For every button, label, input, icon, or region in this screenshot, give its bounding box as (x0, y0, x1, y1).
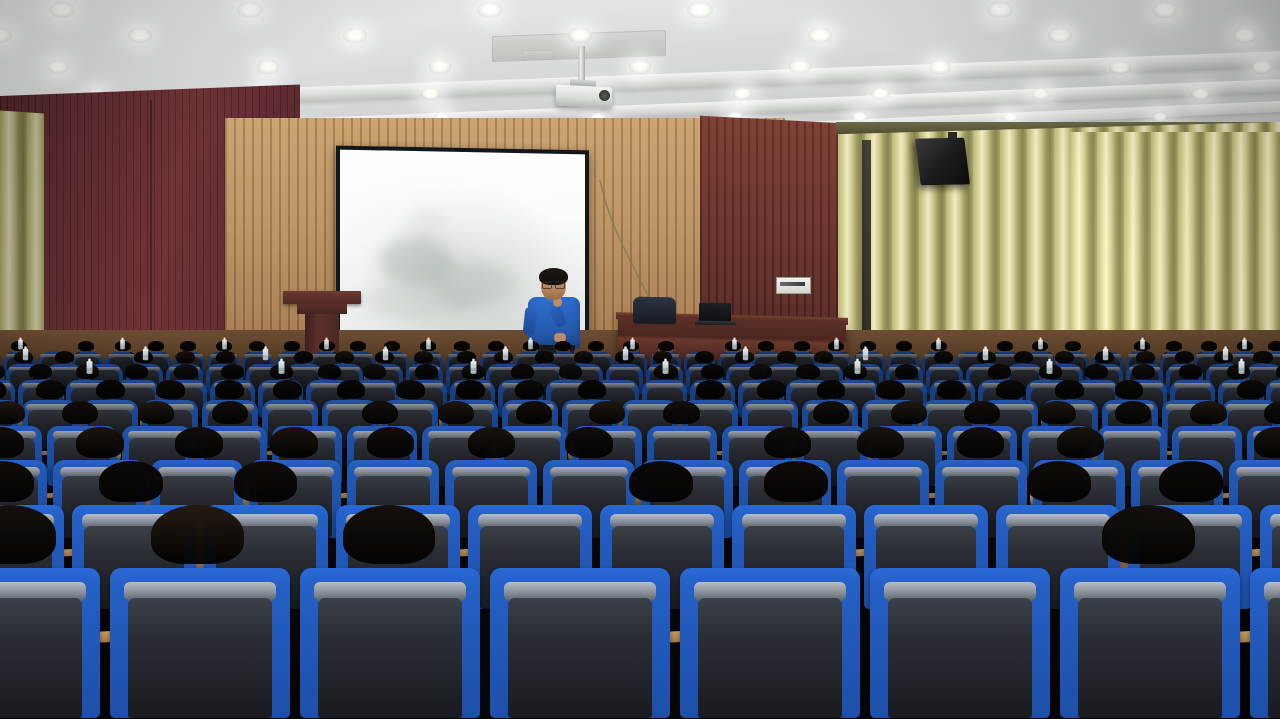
audience-member-hair (62, 401, 98, 425)
water-bottle (855, 361, 861, 374)
audience-member-hair (996, 380, 1025, 399)
audience-member-hair (794, 341, 810, 351)
water-bottle (1239, 361, 1245, 374)
audience-member-hair (511, 364, 534, 379)
audience-member-hair (1085, 364, 1108, 379)
audience-member-hair (588, 341, 604, 351)
water-bottle (1038, 340, 1043, 350)
audience-member-hair (148, 341, 164, 351)
water-bottle (742, 348, 747, 360)
audience-member-hair (589, 401, 625, 425)
water-bottle (426, 340, 431, 350)
audience-member-hair (857, 427, 904, 458)
audience-member-hair (55, 351, 74, 363)
audience-member-hair (294, 351, 313, 363)
audience-member-hair (468, 427, 515, 458)
water-bottle (663, 361, 669, 374)
audience-seating (0, 0, 1280, 719)
audience-member-hair (414, 351, 433, 363)
audience-member-hair (456, 380, 485, 399)
water-bottle (142, 348, 147, 360)
audience-member-hair (1175, 351, 1194, 363)
audience-member-hair (363, 364, 386, 379)
water-bottle (382, 348, 387, 360)
audience-member-hair (234, 461, 298, 502)
audience-member-hair (1057, 427, 1104, 458)
audience-member-hair (284, 341, 300, 351)
auditorium-seat (490, 568, 670, 718)
audience-member-hair (814, 351, 833, 363)
audience-member-hair (1115, 401, 1151, 425)
auditorium-seat (680, 568, 860, 718)
water-bottle (622, 348, 627, 360)
audience-member-hair (777, 351, 796, 363)
water-bottle (22, 348, 27, 360)
audience-member-hair (221, 364, 244, 379)
water-bottle (222, 340, 227, 350)
water-bottle (262, 348, 267, 360)
seat-cushion (128, 598, 272, 718)
audience-member-hair (396, 380, 425, 399)
auditorium-seat (1250, 568, 1280, 718)
audience-member-hair (574, 351, 593, 363)
audience-member-hair (156, 380, 185, 399)
water-bottle (471, 361, 477, 374)
water-bottle (502, 348, 507, 360)
audience-member-hair (1115, 380, 1144, 399)
audience-member-hair (215, 380, 244, 399)
water-bottle (1102, 348, 1107, 360)
audience-member-hair (988, 364, 1011, 379)
audience-member-hair (36, 380, 65, 399)
water-bottle (324, 340, 329, 350)
audience-member-hair (343, 505, 436, 564)
audience-member-hair (1237, 380, 1266, 399)
audience-member-hair (1132, 364, 1155, 379)
water-bottle (120, 340, 125, 350)
audience-member-hair (957, 427, 1004, 458)
seat-cushion (1268, 598, 1280, 718)
audience-member-hair (367, 427, 414, 458)
audience-member-hair (535, 351, 554, 363)
auditorium-seat (1060, 568, 1240, 718)
audience-member-hair (212, 401, 248, 425)
water-bottle (862, 348, 867, 360)
audience-member-hair (516, 401, 552, 425)
audience-member-hair (180, 341, 196, 351)
water-bottle (630, 340, 635, 350)
water-bottle (834, 340, 839, 350)
audience-member-hair (488, 341, 504, 351)
water-bottle (1222, 348, 1227, 360)
auditorium-seat (870, 568, 1050, 718)
audience-member-hair (663, 401, 699, 425)
audience-member-hair (559, 364, 582, 379)
water-bottle (1242, 340, 1247, 350)
audience-member-hair (1039, 401, 1075, 425)
audience-member-hair (76, 427, 123, 458)
audience-member-hair (515, 380, 544, 399)
audience-member-hair (1027, 461, 1091, 502)
audience-member-hair (1268, 341, 1280, 351)
audience-member-hair (335, 351, 354, 363)
audience-member-hair (565, 427, 612, 458)
seat-cushion (0, 598, 82, 718)
water-bottle (1047, 361, 1053, 374)
audience-member-hair (896, 341, 912, 351)
audience-member-hair (138, 401, 174, 425)
audience-member-hair (695, 351, 714, 363)
seat-cushion (888, 598, 1032, 718)
audience-member-hair (764, 427, 811, 458)
audience-member-hair (817, 380, 846, 399)
audience-member-hair (578, 380, 607, 399)
audience-member-hair (273, 380, 302, 399)
audience-member-hair (337, 380, 366, 399)
audience-member-hair (415, 364, 438, 379)
audience-member-hair (937, 380, 966, 399)
audience-member-hair (749, 364, 772, 379)
audience-member-hair (438, 401, 474, 425)
audience-member-hair (696, 380, 725, 399)
audience-member-hair (764, 461, 828, 502)
seat-cushion (698, 598, 842, 718)
audience-member-hair (813, 401, 849, 425)
water-bottle (87, 361, 93, 374)
seat-cushion (508, 598, 652, 718)
audience-member-hair (796, 364, 819, 379)
water-bottle (732, 340, 737, 350)
audience-member-hair (876, 380, 905, 399)
audience-member-hair (270, 427, 317, 458)
audience-member-hair (454, 341, 470, 351)
auditorium-seat (110, 568, 290, 718)
audience-member-hair (318, 364, 341, 379)
audience-member-hair (891, 401, 927, 425)
water-bottle (936, 340, 941, 350)
audience-member-hair (1055, 351, 1074, 363)
audience-member-hair (934, 351, 953, 363)
audience-member-hair (362, 401, 398, 425)
water-bottle (982, 348, 987, 360)
audience-member-hair (174, 364, 197, 379)
audience-member-hair (1055, 380, 1084, 399)
auditorium-seat (0, 568, 100, 718)
audience-member-hair (350, 341, 366, 351)
audience-member-hair (1065, 341, 1081, 351)
audience-member-hair (701, 364, 724, 379)
audience-member-hair (125, 364, 148, 379)
audience-member-hair (176, 351, 195, 363)
audience-member-hair (555, 341, 571, 351)
audience-member-hair (658, 341, 674, 351)
audience-member-hair (1253, 351, 1272, 363)
auditorium-seat (300, 568, 480, 718)
audience-member-hair (1190, 401, 1226, 425)
audience-member-hair (96, 380, 125, 399)
seat-cushion (318, 598, 462, 718)
audience-member-hair (964, 401, 1000, 425)
water-bottle (1140, 340, 1145, 350)
auditorium-photo (0, 0, 1280, 719)
water-bottle (279, 361, 285, 374)
audience-member-hair (758, 341, 774, 351)
audience-member-hair (895, 364, 918, 379)
audience-member-hair (1201, 341, 1217, 351)
audience-member-hair (99, 461, 163, 502)
audience-member-hair (1014, 351, 1033, 363)
audience-member-hair (1136, 351, 1155, 363)
seat-cushion (1078, 598, 1222, 718)
audience-member-hair (175, 427, 222, 458)
audience-member-hair (1102, 505, 1195, 564)
audience-member-hair (151, 505, 244, 564)
audience-member-hair (1179, 364, 1202, 379)
audience-member-hair (29, 364, 52, 379)
audience-member-hair (1159, 461, 1223, 502)
audience-member-hair (78, 341, 94, 351)
audience-member-hair (216, 351, 235, 363)
audience-member-hair (757, 380, 786, 399)
water-bottle (528, 340, 533, 350)
audience-member-hair (629, 461, 693, 502)
audience-member-hair (1166, 341, 1182, 351)
audience-member-hair (997, 341, 1013, 351)
